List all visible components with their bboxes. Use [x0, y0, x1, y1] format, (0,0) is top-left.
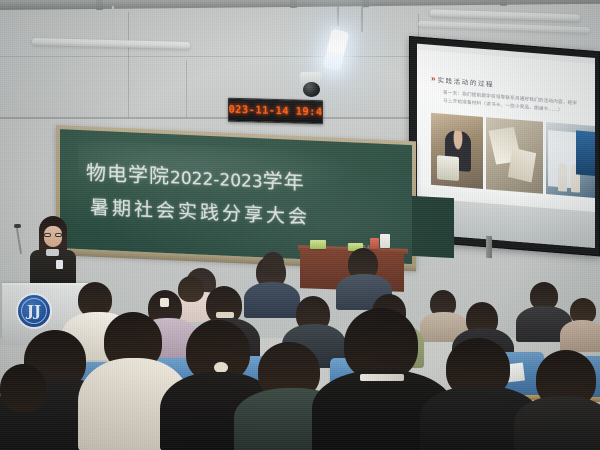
audience-shoulders-front: [514, 396, 600, 450]
wall-panel-joint: [186, 60, 187, 118]
audience-shoulders: [560, 320, 600, 352]
slide-photo-person-reading: [431, 113, 483, 189]
slide-title: 实践活动的过程: [437, 74, 494, 89]
light-hanger-wire: [361, 6, 363, 32]
dome-security-camera: [303, 82, 320, 97]
slide-body-text: 第一天：我们提前跟学校领导联系沟通好我们的活动内容，经学 马上开始准备材料（读书…: [443, 90, 591, 118]
bullet-arrow-icon: »: [431, 75, 433, 83]
audience-head-front: [0, 364, 46, 412]
slide-title-row: » 实践活动的过程: [431, 74, 494, 89]
led-clock-display: 2023-11-14 19:40: [228, 98, 323, 125]
blackboard-dept: 物电学院: [86, 160, 170, 188]
blackboard-headline-2: 暑期社会实践分享大会: [90, 193, 310, 230]
presenter-glasses: [44, 233, 62, 237]
slide-photo-students: [546, 122, 595, 198]
audience-shoulders: [244, 282, 300, 318]
blackboard-year-suffix: 学年: [263, 168, 305, 194]
slide-photo-row: [431, 113, 595, 199]
audience-head: [178, 276, 204, 302]
audience-area: [0, 246, 600, 450]
blackboard-year: 2022-2023: [170, 168, 263, 192]
shirt-collar-stripe: [360, 374, 404, 381]
wall-panel-joint: [128, 12, 129, 118]
microphone-head: [14, 224, 21, 228]
classroom-photo-scene: » 实践活动的过程 第一天：我们提前跟学校领导联系沟通好我们的活动内容，经学 马…: [0, 0, 600, 450]
led-clock-text: 2023-11-14 19:40: [228, 103, 323, 118]
hair-clip: [160, 298, 169, 307]
audience-head: [262, 252, 284, 274]
slide-photo-materials: [486, 117, 543, 194]
